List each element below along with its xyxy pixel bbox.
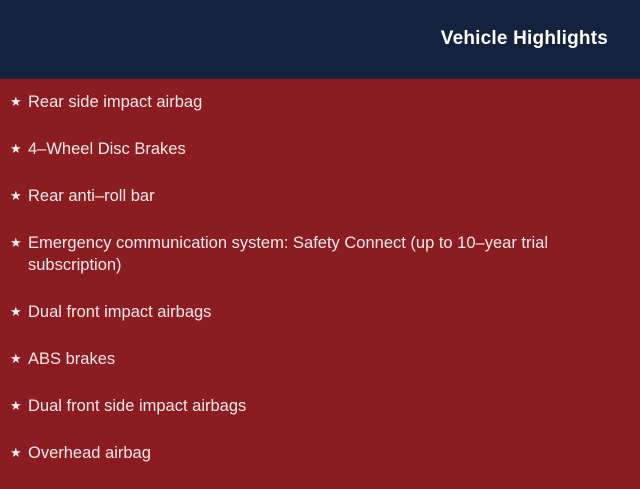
highlight-label: Emergency communication system: Safety C…: [28, 232, 622, 276]
highlight-label: Overhead airbag: [28, 442, 622, 464]
list-item: ★ Rear side impact airbag: [10, 91, 622, 113]
highlight-label: 4–Wheel Disc Brakes: [28, 138, 622, 160]
star-bullet-icon: ★: [10, 395, 28, 417]
slide-header: Vehicle Highlights: [0, 0, 640, 79]
star-bullet-icon: ★: [10, 91, 28, 113]
list-item: ★ Dual front side impact airbags: [10, 395, 622, 417]
star-bullet-icon: ★: [10, 348, 28, 370]
list-item: ★ 4–Wheel Disc Brakes: [10, 138, 622, 160]
highlight-label: Rear anti–roll bar: [28, 185, 622, 207]
highlight-label: Dual front side impact airbags: [28, 395, 622, 417]
slide-body: ★ Rear side impact airbag ★ 4–Wheel Disc…: [0, 79, 640, 489]
star-bullet-icon: ★: [10, 138, 28, 160]
star-bullet-icon: ★: [10, 301, 28, 323]
highlight-label: ABS brakes: [28, 348, 622, 370]
star-bullet-icon: ★: [10, 232, 28, 254]
star-bullet-icon: ★: [10, 185, 28, 207]
list-item: ★ ABS brakes: [10, 348, 622, 370]
list-item: ★ Dual front impact airbags: [10, 301, 622, 323]
vehicle-highlights-list: ★ Rear side impact airbag ★ 4–Wheel Disc…: [10, 91, 622, 464]
list-item: ★ Rear anti–roll bar: [10, 185, 622, 207]
highlight-label: Rear side impact airbag: [28, 91, 622, 113]
highlight-label: Dual front impact airbags: [28, 301, 622, 323]
vehicle-highlights-slide: Vehicle Highlights ★ Rear side impact ai…: [0, 0, 640, 480]
star-bullet-icon: ★: [10, 442, 28, 464]
list-item: ★ Emergency communication system: Safety…: [10, 232, 622, 276]
page-title: Vehicle Highlights: [441, 28, 608, 51]
list-item: ★ Overhead airbag: [10, 442, 622, 464]
